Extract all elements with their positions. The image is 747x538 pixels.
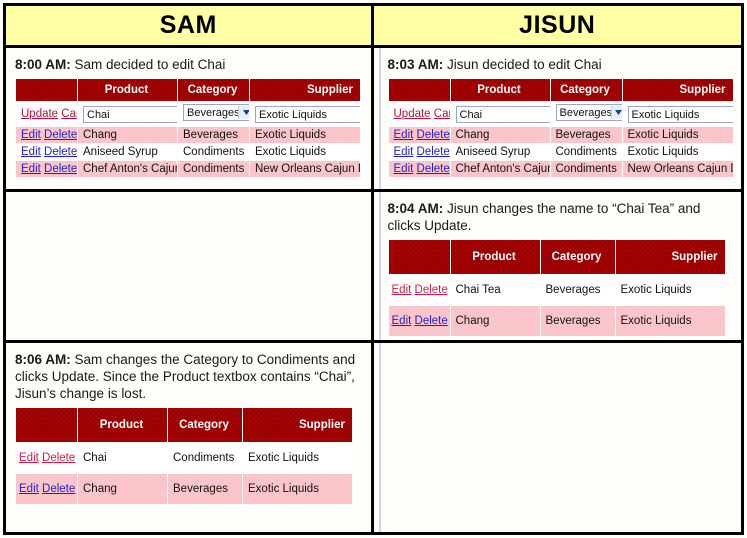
edit-link[interactable]: Edit — [19, 452, 39, 464]
row-actions: Edit Delete — [388, 127, 450, 144]
jisun-804-panel: 8:04 AM: Jisun changes the name to “Chai… — [374, 192, 742, 340]
category-dropdown[interactable]: Beverages — [183, 104, 250, 121]
edit-row-category-cell: Beverages — [550, 102, 622, 127]
delete-link[interactable]: Delete — [415, 315, 448, 327]
cell-product: Chang — [450, 306, 540, 337]
sam-name-label: SAM — [160, 13, 217, 38]
column-header-product: Product — [450, 79, 550, 102]
scenario-grid: SAM JISUN 8:00 AM: Sam decided to edit C… — [3, 3, 744, 535]
jisun-804-time: 8:04 AM: — [388, 201, 444, 216]
category-dropdown-value: Beverages — [187, 107, 240, 119]
edit-row-category-cell: Beverages — [178, 102, 250, 127]
product-textbox[interactable]: Chai — [456, 106, 551, 123]
edit-row-product-cell: Chai — [78, 102, 178, 127]
cell-product: Chef Anton's Cajun — [78, 161, 178, 178]
column-header-supplier: Supplier — [243, 408, 353, 443]
edit-link[interactable]: Edit — [392, 284, 412, 296]
sam-800-grid-wrap: Product Category Supplier Update Cancel — [15, 78, 371, 178]
column-header-category: Category — [168, 408, 243, 443]
chevron-down-icon — [238, 106, 250, 119]
cell-category: Beverages — [540, 275, 615, 306]
column-header-supplier: Supplier — [615, 240, 725, 275]
edit-row-supplier-cell: Exotic Liquids — [250, 102, 361, 127]
table-row: Edit Delete Chang Beverages Exotic Liqui… — [388, 306, 725, 337]
edit-row-supplier-cell: Exotic Liquids — [622, 102, 733, 127]
sam-806-cell: 8:06 AM: Sam changes the Category to Con… — [6, 343, 374, 532]
cell-supplier: Exotic Liquids — [250, 144, 361, 161]
table-row: Edit Delete Chang Beverages Exotic Liqui… — [16, 474, 353, 505]
comparison-diagram: SAM JISUN 8:00 AM: Sam decided to edit C… — [0, 0, 747, 538]
cell-product: Chang — [78, 474, 168, 505]
edit-link[interactable]: Edit — [392, 315, 412, 327]
delete-link[interactable]: Delete — [44, 129, 77, 141]
delete-link[interactable]: Delete — [42, 452, 75, 464]
edit-link[interactable]: Edit — [19, 483, 39, 495]
column-header-category: Category — [178, 79, 250, 102]
jisun-header-banner: JISUN — [374, 6, 742, 45]
cell-category: Beverages — [178, 127, 250, 144]
cell-supplier: Exotic Liquids — [615, 306, 725, 337]
jisun-803-time: 8:03 AM: — [388, 57, 444, 72]
update-link[interactable]: Update — [394, 108, 431, 120]
table-row: Edit Delete Chai Tea Beverages Exotic Li… — [388, 275, 725, 306]
jisun-803-caption: 8:03 AM: Jisun decided to edit Chai — [388, 56, 734, 73]
edit-row-product-cell: Chai — [450, 102, 550, 127]
product-textbox[interactable]: Chai — [83, 106, 178, 123]
jisun-803-cell: 8:03 AM: Jisun decided to edit Chai Prod… — [374, 48, 742, 189]
cell-product: Chang — [450, 127, 550, 144]
products-gridview: Product Category Supplier Edit Delete Ch… — [15, 407, 353, 505]
edit-row-actions: Update Cancel — [388, 102, 450, 127]
cell-supplier: Exotic Liquids — [622, 127, 733, 144]
cancel-link[interactable]: Cancel — [434, 108, 450, 120]
row-actions: Edit Delete — [388, 161, 450, 178]
column-header-product: Product — [78, 79, 178, 102]
column-header-product: Product — [78, 408, 168, 443]
column-header-actions — [388, 79, 450, 102]
edit-link[interactable]: Edit — [21, 163, 41, 175]
row-actions: Edit Delete — [388, 275, 450, 306]
cell-product: Chef Anton's Cajun — [450, 161, 550, 178]
step-row-2: 8:04 AM: Jisun changes the name to “Chai… — [6, 192, 741, 343]
cell-category: Beverages — [168, 474, 243, 505]
cell-product: Chang — [78, 127, 178, 144]
table-row: Edit Delete Chai Condiments Exotic Liqui… — [16, 443, 353, 474]
cell-category: Beverages — [550, 127, 622, 144]
products-gridview: Product Category Supplier Edit Delete Ch… — [388, 239, 726, 337]
edit-link[interactable]: Edit — [394, 129, 414, 141]
edit-link[interactable]: Edit — [394, 146, 414, 158]
cell-category: Beverages — [540, 306, 615, 337]
chevron-down-icon — [611, 106, 623, 119]
jisun-header-cell: JISUN — [374, 6, 742, 45]
edit-link[interactable]: Edit — [394, 163, 414, 175]
cell-supplier: Exotic Liquids — [243, 474, 353, 505]
jisun-803-grid-wrap: Product Category Supplier Update Cancel — [388, 78, 742, 178]
row-actions: Edit Delete — [16, 144, 78, 161]
cell-product: Aniseed Syrup — [78, 144, 178, 161]
table-row: Edit Delete Aniseed Syrup Condiments Exo… — [16, 144, 361, 161]
column-header-category: Category — [550, 79, 622, 102]
column-header-supplier: Supplier — [622, 79, 733, 102]
delete-link[interactable]: Delete — [415, 284, 448, 296]
cell-supplier: Exotic Liquids — [622, 144, 733, 161]
sam-header-cell: SAM — [6, 6, 374, 45]
supplier-textbox[interactable]: Exotic Liquids — [255, 106, 361, 123]
jisun-804-cell: 8:04 AM: Jisun changes the name to “Chai… — [374, 192, 742, 340]
sam-800-text: Sam decided to edit Chai — [71, 57, 226, 72]
row-actions: Edit Delete — [16, 161, 78, 178]
cell-category: Condiments — [550, 161, 622, 178]
table-row: Edit Delete Chang Beverages Exotic Liqui… — [16, 127, 361, 144]
delete-link[interactable]: Delete — [44, 163, 77, 175]
step-row-1: 8:00 AM: Sam decided to edit Chai Produc… — [6, 48, 741, 192]
sam-800-time: 8:00 AM: — [15, 57, 71, 72]
category-dropdown-value: Beverages — [560, 107, 613, 119]
jisun-803-panel: 8:03 AM: Jisun decided to edit Chai Prod… — [374, 48, 742, 189]
gridview-header-row: Product Category Supplier — [388, 240, 725, 275]
row-actions: Edit Delete — [16, 474, 78, 505]
sam-800-cell: 8:00 AM: Sam decided to edit Chai Produc… — [6, 48, 374, 189]
column-header-actions — [16, 408, 78, 443]
update-link[interactable]: Update — [21, 108, 58, 120]
row-actions: Edit Delete — [388, 306, 450, 337]
category-dropdown[interactable]: Beverages — [556, 104, 623, 121]
cell-supplier: New Orleans Cajun Delights — [250, 161, 361, 178]
products-gridview: Product Category Supplier Update Cancel — [388, 78, 734, 178]
table-row: Edit Delete Chang Beverages Exotic Liqui… — [388, 127, 733, 144]
persons-header-row: SAM JISUN — [6, 6, 741, 48]
sam-806-caption: 8:06 AM: Sam changes the Category to Con… — [15, 351, 363, 402]
row-actions: Edit Delete — [16, 127, 78, 144]
delete-link[interactable]: Delete — [417, 129, 450, 141]
jisun-804-grid-wrap: Product Category Supplier Edit Delete Ch… — [388, 239, 742, 337]
supplier-textbox[interactable]: Exotic Liquids — [628, 106, 734, 123]
row-actions: Edit Delete — [16, 443, 78, 474]
column-header-category: Category — [540, 240, 615, 275]
cell-product: Aniseed Syrup — [450, 144, 550, 161]
gridview-header-row: Product Category Supplier — [16, 79, 361, 102]
edit-row-actions: Update Cancel — [16, 102, 78, 127]
cell-supplier: Exotic Liquids — [615, 275, 725, 306]
sam-800-caption: 8:00 AM: Sam decided to edit Chai — [15, 56, 363, 73]
table-row: Edit Delete Chef Anton's Cajun Condiment… — [388, 161, 733, 178]
column-header-product: Product — [450, 240, 540, 275]
sam-empty-cell — [6, 192, 374, 340]
gridview-header-row: Product Category Supplier — [16, 408, 353, 443]
sam-800-panel: 8:00 AM: Sam decided to edit Chai Produc… — [6, 48, 371, 189]
cell-category: Condiments — [178, 161, 250, 178]
column-header-actions — [16, 79, 78, 102]
jisun-empty-cell — [374, 343, 742, 532]
column-header-actions — [388, 240, 450, 275]
sam-806-time: 8:06 AM: — [15, 352, 71, 367]
cell-supplier: Exotic Liquids — [243, 443, 353, 474]
gridview-header-row: Product Category Supplier — [388, 79, 733, 102]
cell-category: Condiments — [550, 144, 622, 161]
edit-link[interactable]: Edit — [21, 146, 41, 158]
cell-product: Chai Tea — [450, 275, 540, 306]
delete-link[interactable]: Delete — [44, 146, 77, 158]
jisun-empty-panel — [374, 343, 742, 532]
cell-category: Condiments — [168, 443, 243, 474]
cancel-link[interactable]: Cancel — [61, 108, 77, 120]
gridview-edit-row: Update Cancel Chai Beverages — [388, 102, 733, 127]
edit-link[interactable]: Edit — [21, 129, 41, 141]
step-row-3: 8:06 AM: Sam changes the Category to Con… — [6, 343, 741, 532]
table-row: Edit Delete Aniseed Syrup Condiments Exo… — [388, 144, 733, 161]
sam-806-grid-wrap: Product Category Supplier Edit Delete Ch… — [15, 407, 371, 505]
cell-category: Condiments — [178, 144, 250, 161]
table-row: Edit Delete Chef Anton's Cajun Condiment… — [16, 161, 361, 178]
sam-empty-panel — [6, 192, 371, 340]
sam-header-banner: SAM — [6, 6, 371, 45]
gridview-edit-row: Update Cancel Chai Beverages — [16, 102, 361, 127]
cell-supplier: Exotic Liquids — [250, 127, 361, 144]
delete-link[interactable]: Delete — [417, 163, 450, 175]
jisun-804-caption: 8:04 AM: Jisun changes the name to “Chai… — [388, 200, 734, 234]
products-gridview: Product Category Supplier Update Cancel — [15, 78, 361, 178]
cell-product: Chai — [78, 443, 168, 474]
row-actions: Edit Delete — [388, 144, 450, 161]
jisun-803-text: Jisun decided to edit Chai — [443, 57, 601, 72]
sam-806-panel: 8:06 AM: Sam changes the Category to Con… — [6, 343, 371, 532]
cell-supplier: New Orleans Cajun Delights — [622, 161, 733, 178]
delete-link[interactable]: Delete — [417, 146, 450, 158]
delete-link[interactable]: Delete — [42, 483, 75, 495]
column-header-supplier: Supplier — [250, 79, 361, 102]
jisun-name-label: JISUN — [519, 13, 595, 38]
